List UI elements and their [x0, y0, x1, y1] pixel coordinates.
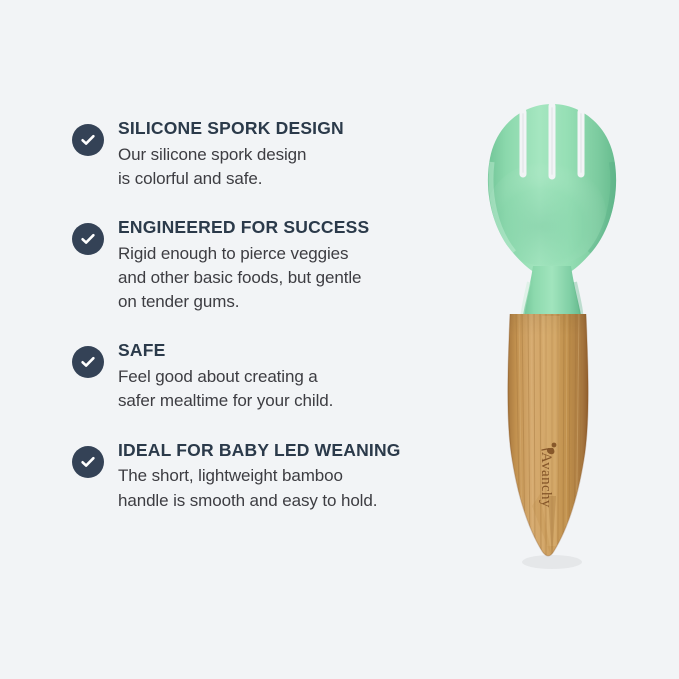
feature-title: IDEAL FOR BABY LED WEANING [118, 440, 462, 462]
product-shadow [522, 555, 582, 569]
feature-description: The short, lightweight bamboo handle is … [118, 464, 462, 512]
product-infographic: SILICONE SPORK DESIGN Our silicone spork… [0, 0, 679, 679]
feature-title: SAFE [118, 340, 462, 362]
feature-description: Feel good about creating a safer mealtim… [118, 365, 462, 413]
feature-item: SILICONE SPORK DESIGN Our silicone spork… [72, 118, 462, 191]
feature-description-line: Feel good about creating a [118, 365, 462, 389]
feature-description-line: Rigid enough to pierce veggies [118, 242, 462, 266]
feature-item: ENGINEERED FOR SUCCESS Rigid enough to p… [72, 217, 462, 314]
bamboo-handle: Avanchy [502, 310, 602, 558]
product-image-spork: Avanchy [462, 96, 642, 586]
feature-title: ENGINEERED FOR SUCCESS [118, 217, 462, 239]
feature-description-line: on tender gums. [118, 290, 462, 314]
brand-logo-engraving: Avanchy [538, 443, 556, 508]
feature-description-line: and other basic foods, but gentle [118, 266, 462, 290]
feature-description-line: Our silicone spork design [118, 143, 462, 167]
feature-item: IDEAL FOR BABY LED WEANING The short, li… [72, 440, 462, 513]
feature-description: Our silicone spork design is colorful an… [118, 143, 462, 191]
feature-description-line: handle is smooth and easy to hold. [118, 489, 462, 513]
feature-title: SILICONE SPORK DESIGN [118, 118, 462, 140]
check-circle-icon [72, 223, 104, 255]
feature-description-line: The short, lightweight bamboo [118, 464, 462, 488]
check-circle-icon [72, 124, 104, 156]
feature-description-line: safer mealtime for your child. [118, 389, 462, 413]
feature-description: Rigid enough to pierce veggies and other… [118, 242, 462, 314]
feature-description-line: is colorful and safe. [118, 167, 462, 191]
brand-name-text: Avanchy [538, 452, 554, 508]
feature-list: SILICONE SPORK DESIGN Our silicone spork… [72, 118, 462, 513]
check-circle-icon [72, 346, 104, 378]
check-circle-icon [72, 446, 104, 478]
feature-item: SAFE Feel good about creating a safer me… [72, 340, 462, 413]
